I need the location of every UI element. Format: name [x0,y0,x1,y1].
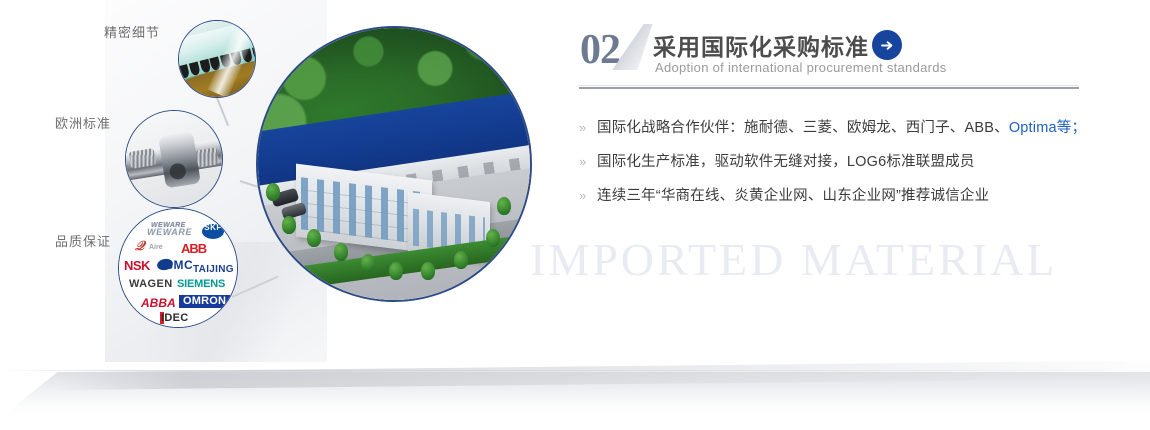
bullet-marker-icon: » [579,118,597,138]
saw-blade-macro-photo [178,20,256,98]
label-precision-detail: 精密细节 [104,22,160,41]
tree [334,243,348,261]
logo-idec: IDEC [161,313,188,324]
logo-omron: OMRON [179,295,230,308]
logo-qi-mark: 𝒬 [135,239,144,252]
logo-nsk: NSK [124,259,150,272]
ball-screw-photo [125,110,223,208]
right-content: 02 采用国际化采购标准 Adoption of international p… [575,0,1120,430]
feature-list: » 国际化战略合作伙伴：施耐德、三菱、欧姆龙、西门子、ABB、Optima等； … [579,118,1099,220]
list-item: » 国际化生产标准，驱动软件无缝对接，LOG6标准联盟成员 [579,152,1099,172]
tree [389,262,403,280]
logo-skf: SKF [202,224,224,239]
logo-abba: ABBA [141,297,176,309]
bullet-marker-icon: » [579,152,597,172]
watermark-text: IMPORTED MATERIAL [530,233,1057,286]
logo-smc: SMC [165,259,193,271]
tree [497,197,511,215]
logo-qi-text: Aire [149,244,163,251]
tree [361,254,375,272]
list-item-highlight: Optima等； [1009,120,1086,136]
list-item: » 国际化战略合作伙伴：施耐德、三菱、欧姆龙、西门子、ABB、Optima等； [579,118,1099,138]
label-european-standard: 欧洲标准 [55,113,111,132]
promo-banner: WEWARE WEWARE SKF 𝒬 Aire ABB NSK SMC TAI… [0,0,1150,430]
logo-wagen: WAGEN [129,279,173,290]
list-item-text: 连续三年“华商在线、炎黄企业网、山东企业网”推荐诚信企业 [597,186,989,206]
logo-taijing: TAIJING [193,265,234,275]
label-quality-assurance: 品质保证 [55,231,111,250]
tree [282,216,296,234]
page-subtitle: Adoption of international procurement st… [655,60,947,75]
page-title: 采用国际化采购标准 [653,28,869,62]
arrow-right-icon[interactable] [872,30,902,60]
logo-abb: ABB [181,242,206,255]
list-item-text: 国际化生产标准，驱动软件无缝对接，LOG6标准联盟成员 [597,152,975,172]
list-item: » 连续三年“华商在线、炎黄企业网、山东企业网”推荐诚信企业 [579,186,1099,206]
brand-logo-collage: WEWARE WEWARE SKF 𝒬 Aire ABB NSK SMC TAI… [118,208,238,328]
tree [266,183,280,201]
bullet-marker-icon: » [579,186,597,206]
header-divider [579,85,1079,89]
list-item-text: 国际化战略合作伙伴：施耐德、三菱、欧姆龙、西门子、ABB、 [597,120,1009,136]
tree [454,251,468,269]
tree [307,229,321,247]
tree [421,262,435,280]
logo-weware: WEWARE [147,228,192,237]
factory-aerial-photo [256,26,532,302]
logo-siemens: SIEMENS [177,279,225,290]
section-header: 02 采用国际化采购标准 Adoption of international p… [575,0,1120,86]
